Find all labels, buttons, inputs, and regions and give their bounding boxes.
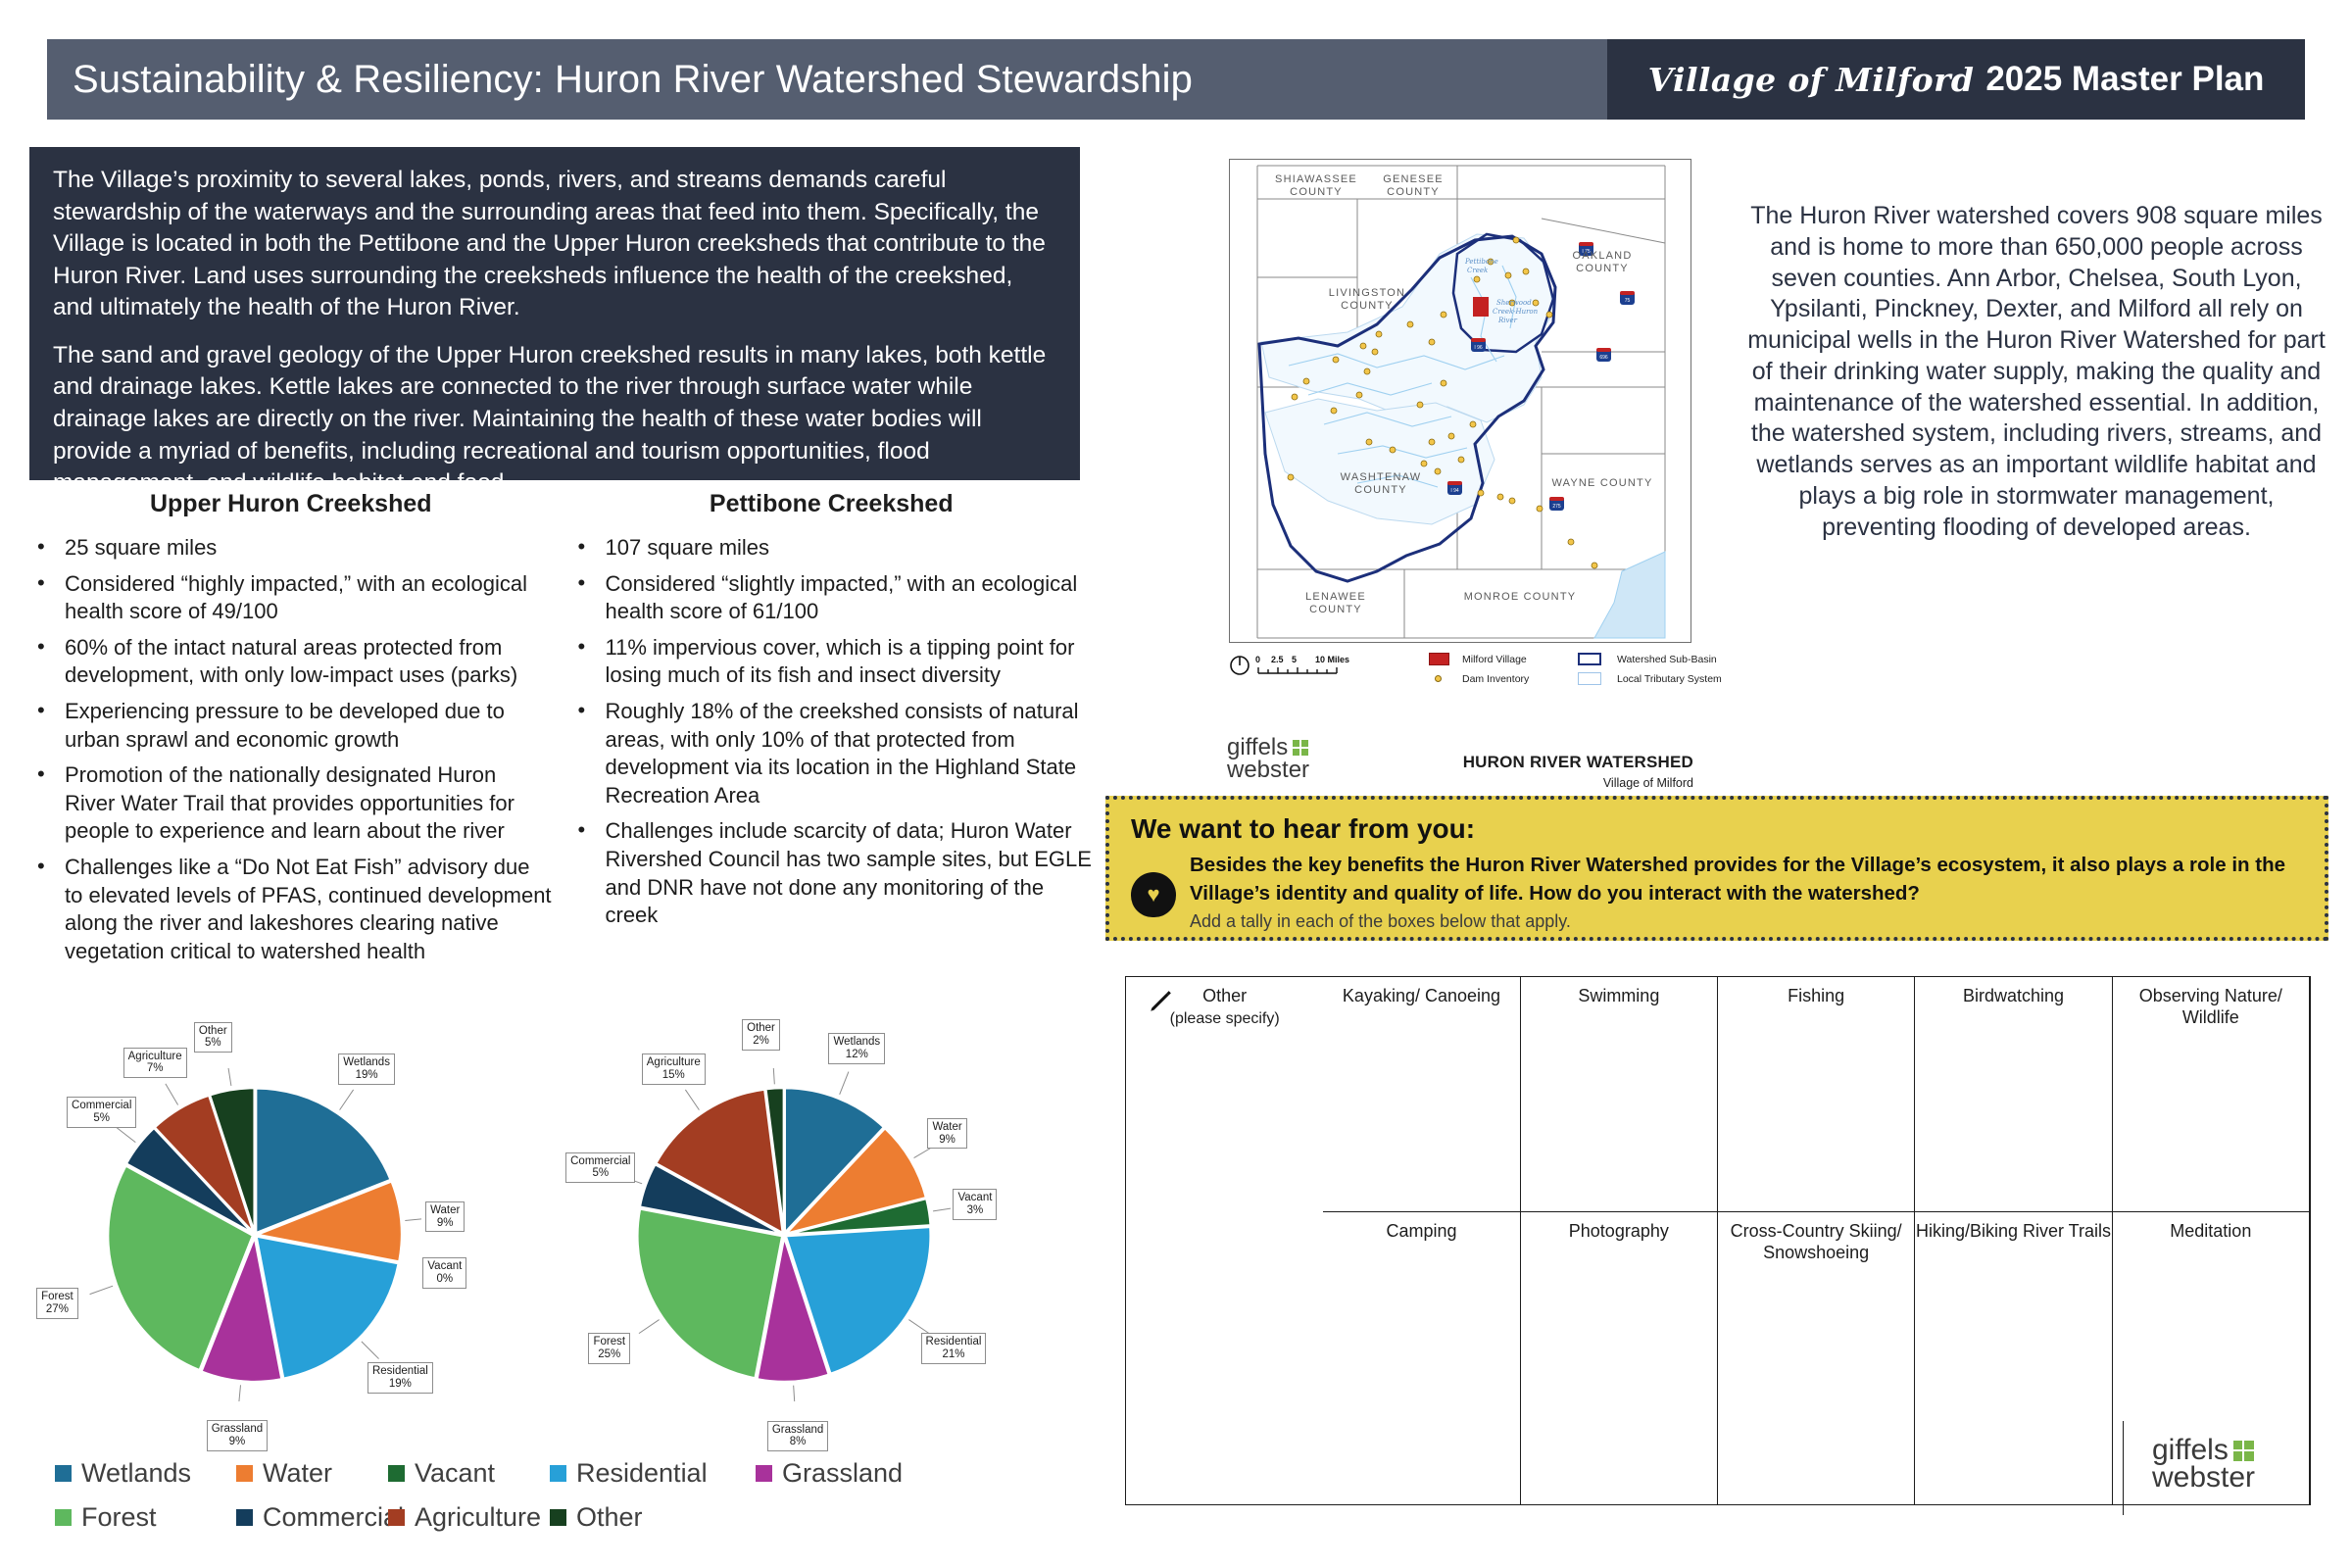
land-use-pie-charts: Wetlands19%Water9%Vacant0%Residential19%…: [29, 1058, 1093, 1441]
legend-item: Agriculture: [388, 1502, 550, 1533]
legend-swatch: [550, 1509, 566, 1526]
svg-text:5: 5: [1292, 655, 1297, 664]
watershed-subbasin-swatch: [1578, 653, 1601, 665]
creekshed-title: Upper Huron Creekshed: [29, 490, 553, 518]
pie-chart-svg: [617, 1068, 951, 1401]
legend-label: Forest: [81, 1502, 157, 1533]
footer-logo-line-1: giffels: [2152, 1437, 2229, 1464]
map-county-label: WASHTENAW COUNTY: [1334, 471, 1428, 496]
footer-giffels-webster-logo: giffels webster: [2152, 1437, 2255, 1492]
svg-text:River: River: [1497, 317, 1518, 324]
map-county-label: OAKLAND COUNTY: [1555, 250, 1649, 274]
svg-text:Creek: Creek: [1467, 267, 1488, 274]
pie-chart-pettibone: Wetlands12%Water9%Vacant3%Residential21%…: [617, 1068, 951, 1401]
pie-leader-line: [340, 1090, 354, 1110]
svg-text:I 96: I 96: [1474, 345, 1483, 351]
map-legend-label: Local Tributary System: [1617, 673, 1744, 685]
pie-slice-label: Commercial5%: [565, 1152, 635, 1184]
map-title-block: HURON RIVER WATERSHED Village of Milford: [1463, 753, 1693, 790]
map-svg: I 75 75 I 96 696 I 94 275 Pettibone Cree…: [1230, 160, 1691, 643]
pie-leader-line: [773, 1068, 775, 1084]
list-item: 60% of the intact natural areas protecte…: [29, 634, 553, 690]
intro-text-panel: The Village’s proximity to several lakes…: [29, 147, 1080, 480]
pie-leader-line: [405, 1218, 421, 1220]
brand-header: Village of Milford 2025 Master Plan: [1607, 39, 2305, 120]
tally-cell-other[interactable]: Other (please specify): [1126, 977, 1323, 1504]
tally-cell-birdwatching[interactable]: Birdwatching: [1915, 977, 2112, 1212]
list-item: 107 square miles: [570, 534, 1094, 563]
tally-cell-camping[interactable]: Camping: [1323, 1212, 1520, 1504]
pie-leader-line: [90, 1286, 114, 1294]
legend-label: Vacant: [415, 1458, 495, 1489]
land-use-legend: WetlandsWaterVacantResidentialGrasslandF…: [55, 1458, 1054, 1533]
map-legend: Milford Village Watershed Sub-Basin Dam …: [1429, 653, 1744, 685]
legend-item: Wetlands: [55, 1458, 236, 1489]
footer-logo-line-2: webster: [2152, 1464, 2255, 1492]
legend-label: Commercial: [263, 1502, 404, 1533]
logo-squares-icon: [1293, 740, 1308, 756]
legend-swatch: [388, 1465, 405, 1482]
activity-tally-grid: Kayaking/ Canoeing Swimming Fishing Bird…: [1125, 976, 2311, 1505]
milford-village-swatch: [1429, 653, 1449, 665]
watershed-summary-paragraph: The Huron River watershed covers 908 squ…: [1742, 201, 2330, 543]
pie-leader-line: [685, 1090, 699, 1110]
pie-slice-label: Agriculture7%: [123, 1048, 187, 1079]
pie-slice-label: Forest25%: [588, 1333, 630, 1364]
legend-label: Other: [576, 1502, 643, 1533]
pie-slice-label: Residential19%: [367, 1362, 433, 1394]
legend-swatch: [55, 1465, 72, 1482]
brand-script-label: Village of Milford: [1648, 61, 1975, 99]
tally-cell-observing-nature[interactable]: Observing Nature/ Wildlife: [2113, 977, 2310, 1212]
legend-swatch: [55, 1509, 72, 1526]
svg-text:I 94: I 94: [1450, 488, 1459, 494]
map-legend-label: Dam Inventory: [1462, 673, 1578, 685]
map-county-label: GENESEE COUNTY: [1367, 173, 1459, 198]
callout-question: Besides the key benefits the Huron River…: [1190, 851, 2303, 907]
pie-slice-label: Other5%: [194, 1022, 232, 1053]
pie-leader-line: [840, 1072, 849, 1095]
svg-text:0: 0: [1255, 655, 1260, 664]
list-item: Challenges like a “Do Not Eat Fish” advi…: [29, 854, 553, 965]
legend-label: Water: [263, 1458, 332, 1489]
callout-subtext: Add a tally in each of the boxes below t…: [1190, 911, 2303, 932]
brand-plan-label: 2025 Master Plan: [1985, 60, 2264, 99]
pie-slice-label: Vacant0%: [422, 1257, 466, 1289]
tally-cell-hiking-biking[interactable]: Hiking/Biking River Trails: [1915, 1212, 2112, 1504]
legend-label: Residential: [576, 1458, 708, 1489]
feedback-callout: We want to hear from you: Besides the ke…: [1105, 796, 2328, 941]
legend-swatch: [236, 1465, 253, 1482]
creekshed-bullet-list: 107 square miles Considered “slightly im…: [570, 534, 1094, 930]
legend-label: Agriculture: [415, 1502, 541, 1533]
creekshed-column-pettibone: Pettibone Creekshed 107 square miles Con…: [570, 490, 1094, 973]
tally-cell-kayaking[interactable]: Kayaking/ Canoeing: [1323, 977, 1520, 1212]
tally-cell-fishing[interactable]: Fishing: [1718, 977, 1915, 1212]
intro-paragraph-1: The Village’s proximity to several lakes…: [53, 165, 1056, 324]
legend-item: Water: [236, 1458, 388, 1489]
map-scale-bar: 02.5 510 Miles: [1229, 650, 1405, 688]
dam-inventory-icon: [1435, 675, 1442, 682]
legend-item: Vacant: [388, 1458, 550, 1489]
footer-divider: [2123, 1421, 2124, 1515]
pie-leader-line: [227, 1068, 231, 1086]
creekshed-columns: Upper Huron Creekshed 25 square miles Co…: [29, 490, 1093, 973]
list-item: Experiencing pressure to be developed du…: [29, 698, 553, 754]
tally-cell-photography[interactable]: Photography: [1521, 1212, 1718, 1504]
map-county-label: LIVINGSTON COUNTY: [1320, 287, 1414, 312]
pie-leader-line: [908, 1320, 929, 1334]
pie-leader-line: [639, 1320, 660, 1334]
pie-leader-line: [166, 1084, 178, 1105]
tally-cell-swimming[interactable]: Swimming: [1521, 977, 1718, 1212]
legend-swatch: [550, 1465, 566, 1482]
map-image: I 75 75 I 96 696 I 94 275 Pettibone Cree…: [1229, 159, 1691, 643]
map-subtitle: Village of Milford: [1463, 776, 1693, 790]
creekshed-bullet-list: 25 square miles Considered “highly impac…: [29, 534, 553, 965]
pie-slice-label: Wetlands19%: [338, 1053, 395, 1085]
map-giffels-webster-logo: giffels webster: [1227, 737, 1309, 781]
svg-text:75: 75: [1625, 298, 1631, 304]
pie-slice-label: Vacant3%: [953, 1189, 997, 1220]
svg-text:2.5: 2.5: [1271, 655, 1284, 664]
heart-icon: [1131, 872, 1176, 917]
map-legend-label: Milford Village: [1462, 654, 1578, 665]
pie-slice-label: Water9%: [425, 1201, 465, 1233]
page-title: Sustainability & Resiliency: Huron River…: [47, 58, 1193, 102]
creekshed-column-upper-huron: Upper Huron Creekshed 25 square miles Co…: [29, 490, 553, 973]
pie-slice-label: Grassland9%: [207, 1420, 268, 1451]
pie-leader-line: [117, 1127, 136, 1142]
legend-item: Other: [550, 1502, 756, 1533]
pie-slice-label: Wetlands12%: [828, 1033, 885, 1064]
pen-icon: [1148, 989, 1173, 1014]
legend-label: Wetlands: [81, 1458, 191, 1489]
legend-item: Residential: [550, 1458, 756, 1489]
list-item: Considered “highly impacted,” with an ec…: [29, 570, 553, 626]
pie-chart-svg: [88, 1068, 421, 1401]
pie-leader-line: [238, 1385, 240, 1401]
map-county-label: WAYNE COUNTY: [1547, 477, 1657, 490]
pie-leader-line: [794, 1386, 796, 1401]
list-item: Challenges include scarcity of data; Hur…: [570, 817, 1094, 929]
pie-slice-label: Commercial5%: [67, 1097, 136, 1128]
footer-logo-squares-icon: [2233, 1441, 2254, 1461]
watershed-map-card: I 75 75 I 96 696 I 94 275 Pettibone Cree…: [1198, 155, 1727, 704]
creekshed-title: Pettibone Creekshed: [570, 490, 1094, 518]
list-item: 11% impervious cover, which is a tipping…: [570, 634, 1094, 690]
legend-swatch: [236, 1509, 253, 1526]
map-county-label: SHIAWASSEE COUNTY: [1269, 173, 1363, 198]
pie-slice: [637, 1208, 782, 1378]
list-item: 25 square miles: [29, 534, 553, 563]
tally-cell-cross-country-skiing[interactable]: Cross-Country Skiing/ Snowshoeing: [1718, 1212, 1915, 1504]
intro-paragraph-2: The sand and gravel geology of the Upper…: [53, 340, 1056, 500]
legend-swatch: [756, 1465, 772, 1482]
local-tributary-swatch: [1578, 672, 1601, 685]
scale-bar-svg: 02.5 510 Miles: [1229, 650, 1405, 683]
list-item: Roughly 18% of the creekshed consists of…: [570, 698, 1094, 809]
pie-slice-label: Residential21%: [921, 1333, 987, 1364]
map-legend-label: Watershed Sub-Basin: [1617, 654, 1744, 665]
pie-leader-line: [933, 1207, 951, 1211]
list-item: Promotion of the nationally designated H…: [29, 761, 553, 846]
svg-text:275: 275: [1552, 504, 1561, 510]
pie-slice-label: Water9%: [927, 1118, 966, 1150]
svg-text:696: 696: [1599, 355, 1608, 361]
pie-slice-label: Other2%: [742, 1019, 780, 1051]
legend-swatch: [388, 1509, 405, 1526]
legend-item: Commercial: [236, 1502, 388, 1533]
svg-text:Creek-Huron: Creek-Huron: [1493, 308, 1539, 316]
svg-text:Pettibone: Pettibone: [1464, 258, 1498, 266]
pie-slice-label: Grassland8%: [767, 1421, 828, 1452]
legend-label: Grassland: [782, 1458, 903, 1489]
pie-chart-upper-huron: Wetlands19%Water9%Vacant0%Residential19%…: [88, 1068, 421, 1401]
list-item: Considered “slightly impacted,” with an …: [570, 570, 1094, 626]
pie-slice-label: Forest27%: [36, 1288, 78, 1319]
legend-item: Forest: [55, 1502, 236, 1533]
map-county-label: LENAWEE COUNTY: [1289, 591, 1383, 615]
legend-item: Grassland: [756, 1458, 952, 1489]
callout-title: We want to hear from you:: [1131, 813, 2303, 845]
logo-line-2: webster: [1227, 759, 1309, 782]
svg-text:10 Miles: 10 Miles: [1315, 655, 1349, 664]
map-county-label: MONROE COUNTY: [1461, 591, 1579, 604]
svg-text:Sherwood: Sherwood: [1496, 299, 1532, 307]
pie-leader-line: [362, 1342, 379, 1359]
map-title: HURON RIVER WATERSHED: [1463, 753, 1693, 772]
pie-slice-label: Agriculture15%: [642, 1053, 706, 1085]
page-header-band: Sustainability & Resiliency: Huron River…: [47, 39, 1615, 120]
